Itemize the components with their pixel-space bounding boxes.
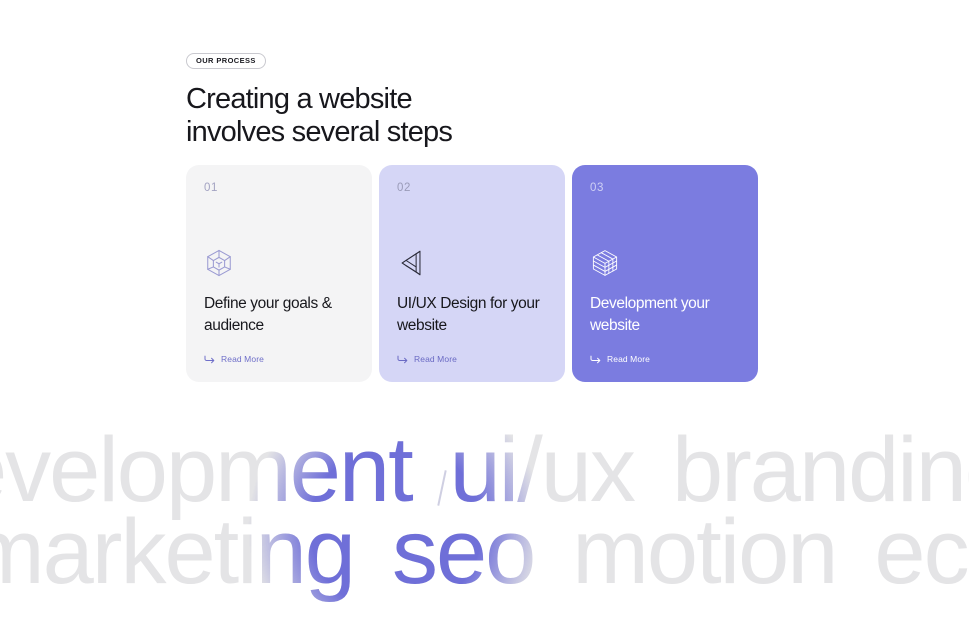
process-card-02[interactable]: 02 UI/UX Design for your website Read Mo…: [379, 165, 565, 382]
read-more-label: Read More: [414, 354, 457, 364]
marquee-word: ecomm: [874, 501, 969, 603]
keyword-marquee: evelopmentui/uxbrandingmo marketingseomo…: [0, 424, 969, 628]
cube-grid-icon: [590, 248, 620, 278]
process-card-list: 01 Define your goals & audience Read Mor…: [186, 165, 758, 382]
read-more-link[interactable]: Read More: [397, 354, 457, 364]
marquee-word: motion: [572, 501, 836, 603]
read-more-link[interactable]: Read More: [590, 354, 650, 364]
read-more-label: Read More: [607, 354, 650, 364]
marquee-word: marketing: [0, 501, 354, 603]
page-title: Creating a website involves several step…: [186, 83, 516, 149]
arrow-hook-icon: [204, 355, 215, 364]
arrow-hook-icon: [590, 355, 601, 364]
card-title: UI/UX Design for your website: [397, 293, 553, 337]
process-section-header: OUR PROCESS Creating a website involves …: [186, 50, 786, 149]
hexagon-cube-icon: [204, 248, 234, 278]
arrow-hook-icon: [397, 355, 408, 364]
process-card-03[interactable]: 03 Development your website Read More: [572, 165, 758, 382]
marquee-highlight-layer: evelopmentui/uxbrandingmo marketingseomo…: [0, 424, 969, 628]
process-card-01[interactable]: 01 Define your goals & audience Read Mor…: [186, 165, 372, 382]
read-more-link[interactable]: Read More: [204, 354, 264, 364]
card-title: Development your website: [590, 293, 746, 337]
eyebrow-badge: OUR PROCESS: [186, 53, 266, 69]
card-number: 03: [590, 182, 740, 194]
card-title: Define your goals & audience: [204, 293, 360, 337]
card-number: 02: [397, 182, 547, 194]
penrose-triangle-arrow-icon: [397, 248, 427, 278]
read-more-label: Read More: [221, 354, 264, 364]
marquee-row-2-highlight: marketingseomotionecomm: [0, 506, 969, 598]
card-number: 01: [204, 182, 354, 194]
marquee-word: seo: [392, 501, 534, 603]
